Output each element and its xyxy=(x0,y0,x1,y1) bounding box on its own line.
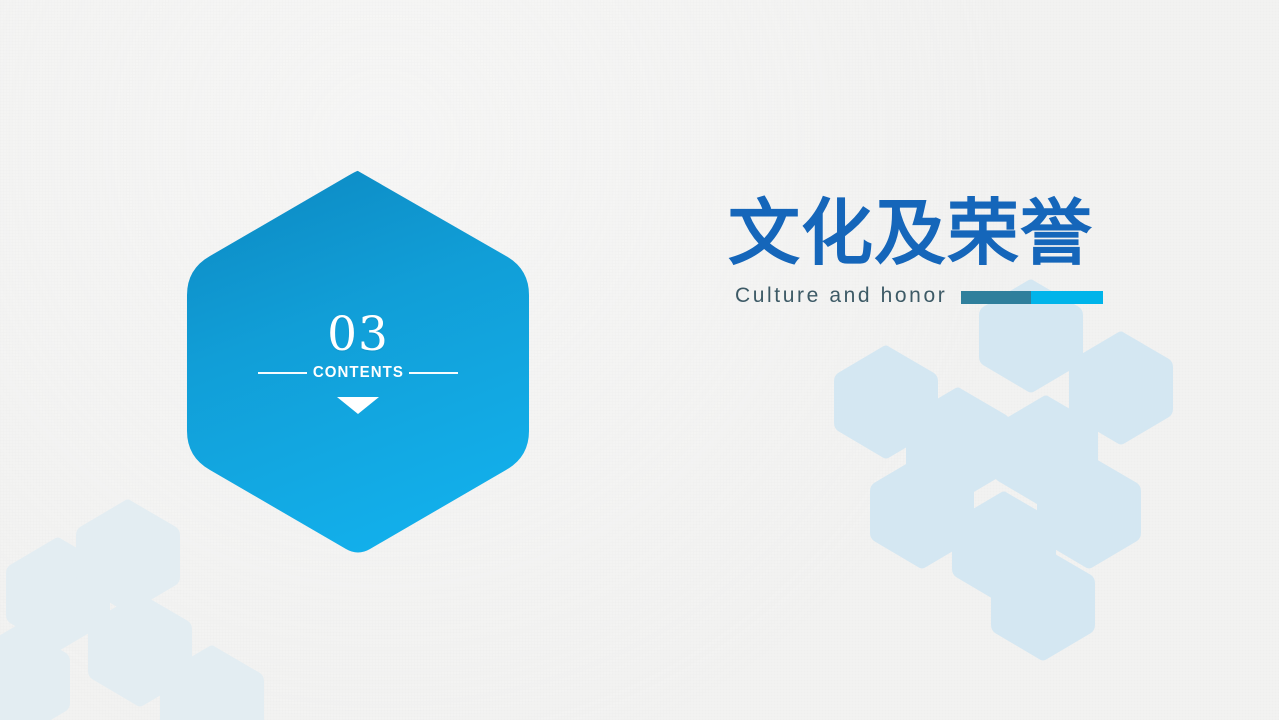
subtitle-row: Culture and honor xyxy=(735,284,1148,308)
triangle-down-icon xyxy=(337,397,379,414)
hex-cluster-right xyxy=(834,279,1173,661)
accent-bar-segment-left xyxy=(961,291,1031,304)
badge-content: 03 CONTENTS xyxy=(184,168,532,558)
accent-bar xyxy=(961,291,1103,304)
contents-label: CONTENTS xyxy=(310,364,407,382)
title-block: 文化及荣誉 Culture and honor xyxy=(728,196,1148,308)
page-subtitle: Culture and honor xyxy=(735,284,947,308)
section-number: 03 xyxy=(327,311,389,358)
presentation-slide: 03 CONTENTS 文化及荣誉 Culture and honor xyxy=(0,0,1279,720)
section-number-hexagon[interactable]: 03 CONTENTS xyxy=(184,168,532,558)
accent-bar-segment-right xyxy=(1031,291,1103,304)
page-title: 文化及荣誉 xyxy=(728,196,1148,272)
rule-left xyxy=(258,372,307,374)
rule-right xyxy=(409,372,458,374)
contents-label-row: CONTENTS xyxy=(258,364,458,382)
